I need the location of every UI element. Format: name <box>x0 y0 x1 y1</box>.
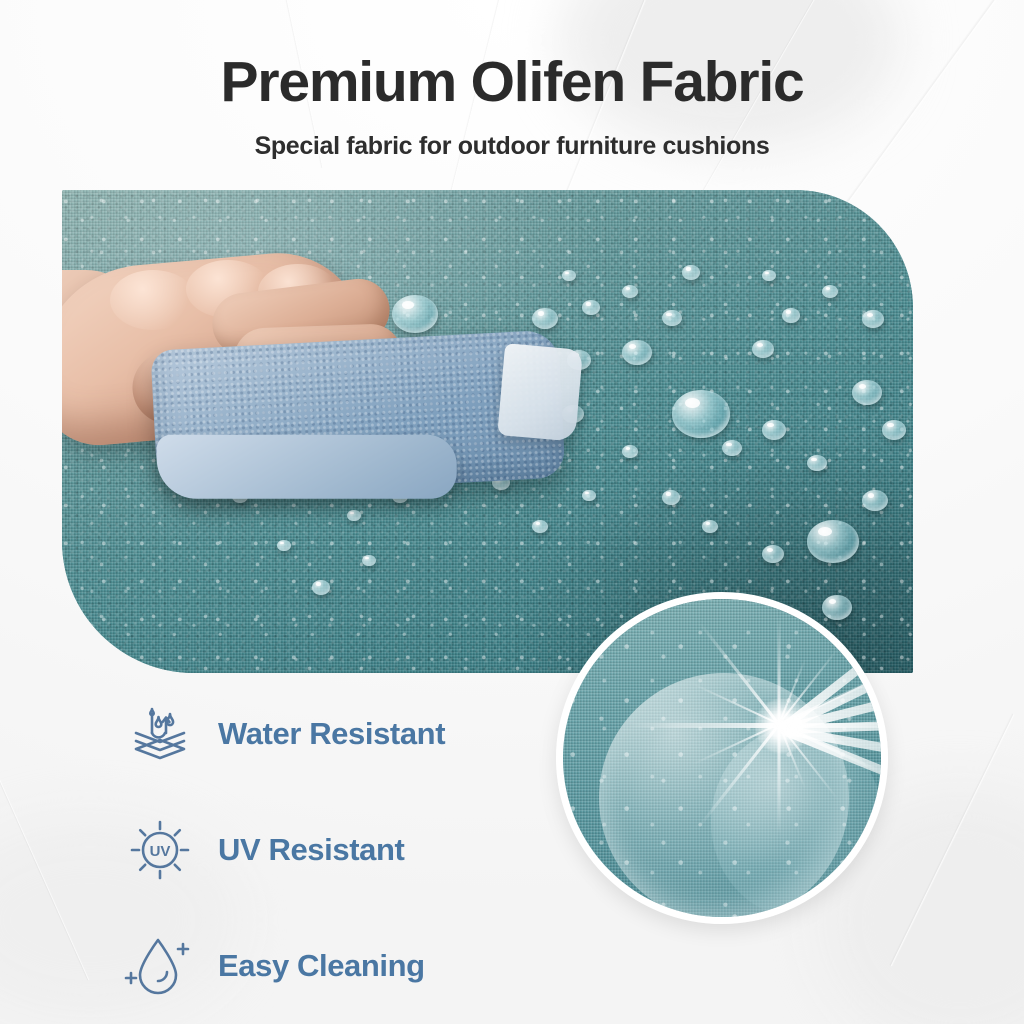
cloth-fold <box>157 435 457 499</box>
water-droplet <box>782 308 800 323</box>
feature-easy-cleaning: Easy Cleaning <box>118 918 518 1014</box>
water-droplet <box>702 520 718 533</box>
magnified-inset-circle <box>556 592 888 924</box>
header: Premium Olifen Fabric Special fabric for… <box>0 52 1024 161</box>
water-droplet <box>312 580 330 595</box>
water-droplet <box>752 340 774 358</box>
water-droplet <box>852 380 882 405</box>
water-droplet <box>882 420 906 440</box>
water-droplet <box>622 340 652 365</box>
inset-small-droplets <box>563 599 881 917</box>
feature-uv-resistant: UV UV Resistant <box>118 802 518 898</box>
water-droplet <box>862 310 884 328</box>
water-droplet <box>762 545 784 563</box>
feature-list: Water Resistant UV UV Resistant <box>118 686 518 1024</box>
page-title: Premium Olifen Fabric <box>0 52 1024 112</box>
page-subtitle: Special fabric for outdoor furniture cus… <box>0 132 1024 161</box>
water-droplet <box>662 490 680 505</box>
product-infographic: Premium Olifen Fabric Special fabric for… <box>0 0 1024 1024</box>
feature-water-resistant: Water Resistant <box>118 686 518 782</box>
water-droplet <box>672 390 730 438</box>
water-droplet <box>582 300 600 315</box>
feature-label: Easy Cleaning <box>218 948 425 984</box>
droplet-sparkle-icon <box>118 924 202 1008</box>
water-droplet <box>807 520 859 563</box>
svg-text:UV: UV <box>150 843 171 860</box>
water-droplet <box>682 265 700 280</box>
feature-label: Water Resistant <box>218 716 445 752</box>
microfiber-cloth <box>150 329 565 498</box>
water-droplet <box>622 285 638 298</box>
water-droplet <box>622 445 638 458</box>
water-repellent-layers-icon <box>118 692 202 776</box>
water-droplet <box>822 285 838 298</box>
cloth-edge-tag <box>497 343 583 441</box>
water-droplet <box>532 520 548 533</box>
water-droplet <box>762 420 786 440</box>
knuckle <box>110 270 196 330</box>
uv-sun-icon: UV <box>118 808 202 892</box>
feature-label: UV Resistant <box>218 832 404 868</box>
